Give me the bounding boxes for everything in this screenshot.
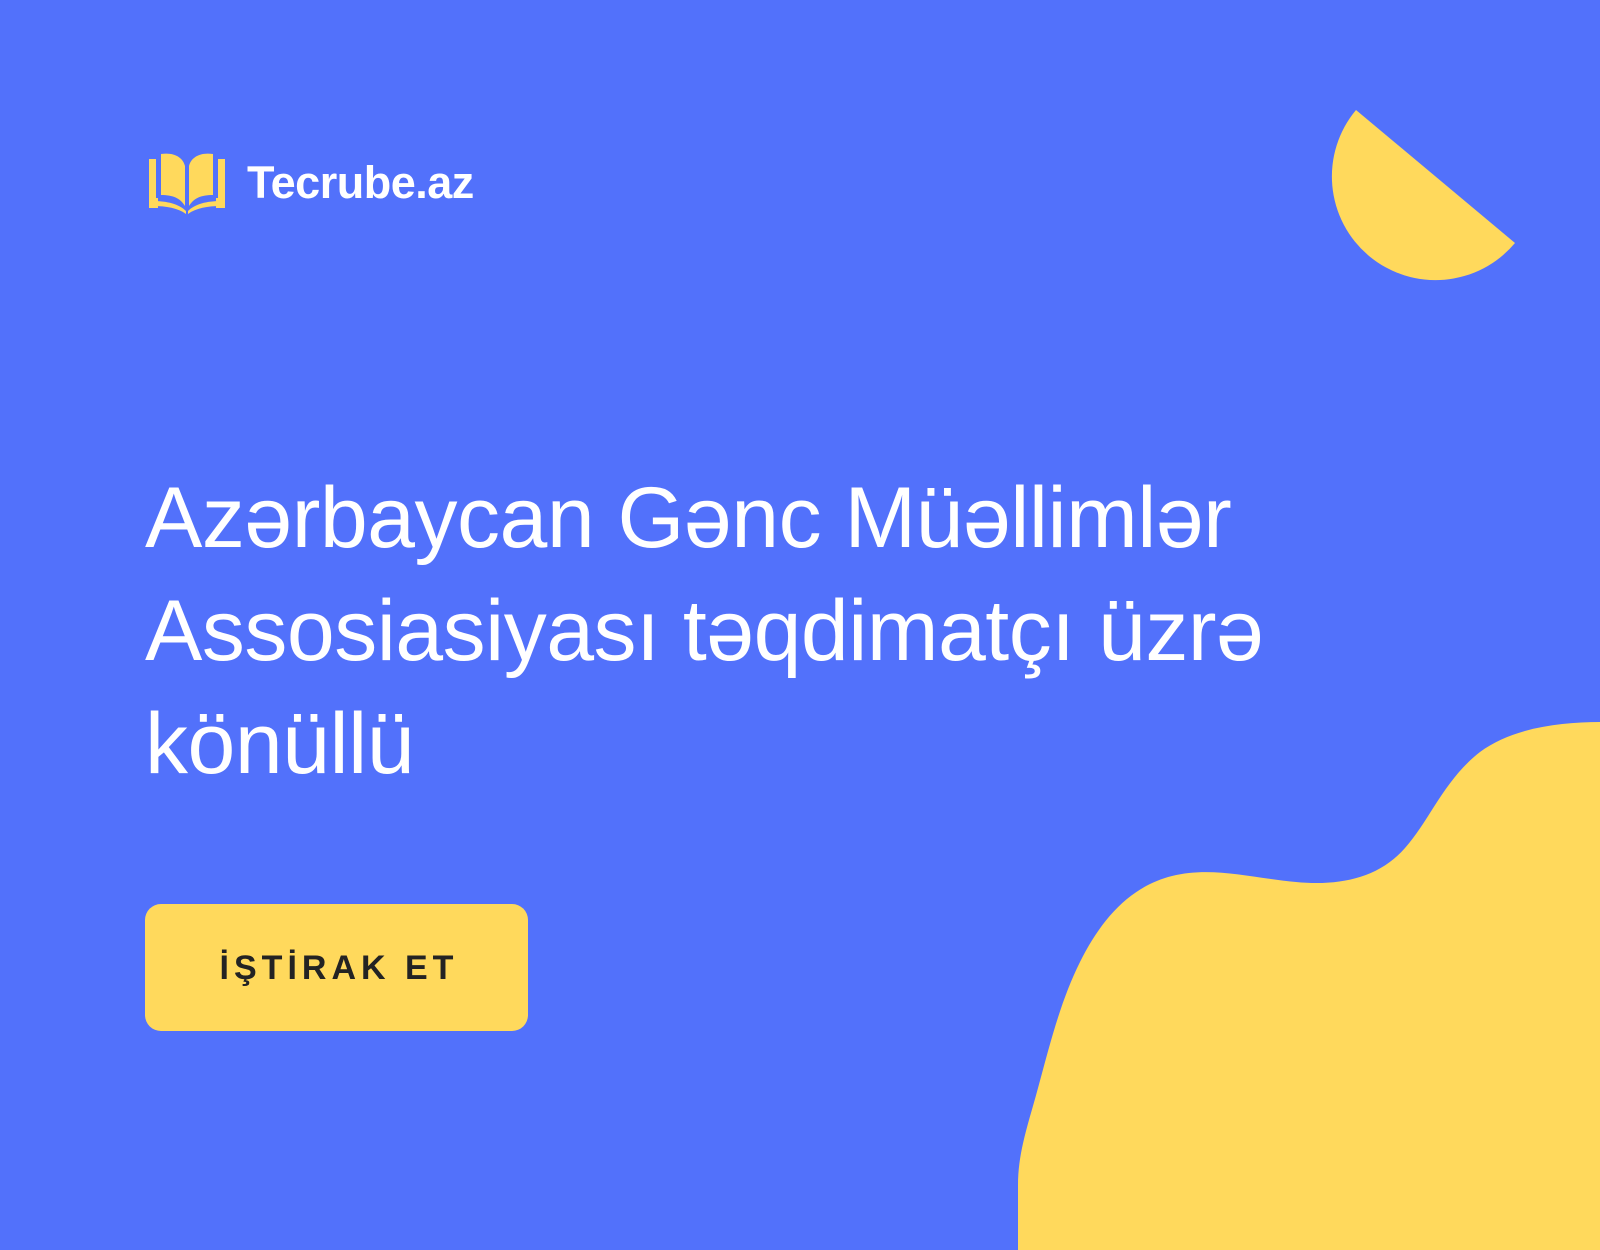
page-title-line-2: Assosiasiyası təqdimatçı üzrə [145, 575, 1355, 688]
open-book-icon [145, 146, 229, 218]
promo-banner: Tecrube.az Azərbaycan Gənc Müəllimlər As… [0, 0, 1600, 1250]
page-title: Azərbaycan Gənc Müəllimlər Assosiasiyası… [145, 462, 1355, 801]
participate-button[interactable]: İŞTİRAK ET [145, 904, 528, 1031]
participate-button-label: İŞTİRAK ET [215, 951, 459, 985]
half-circle-shape [1332, 110, 1515, 280]
page-title-line-3: könüllü [145, 688, 1355, 801]
logo[interactable]: Tecrube.az [145, 146, 474, 218]
page-title-line-1: Azərbaycan Gənc Müəllimlər [145, 462, 1355, 575]
wave-blob-shape [1018, 722, 1600, 1250]
logo-text: Tecrube.az [247, 160, 474, 205]
